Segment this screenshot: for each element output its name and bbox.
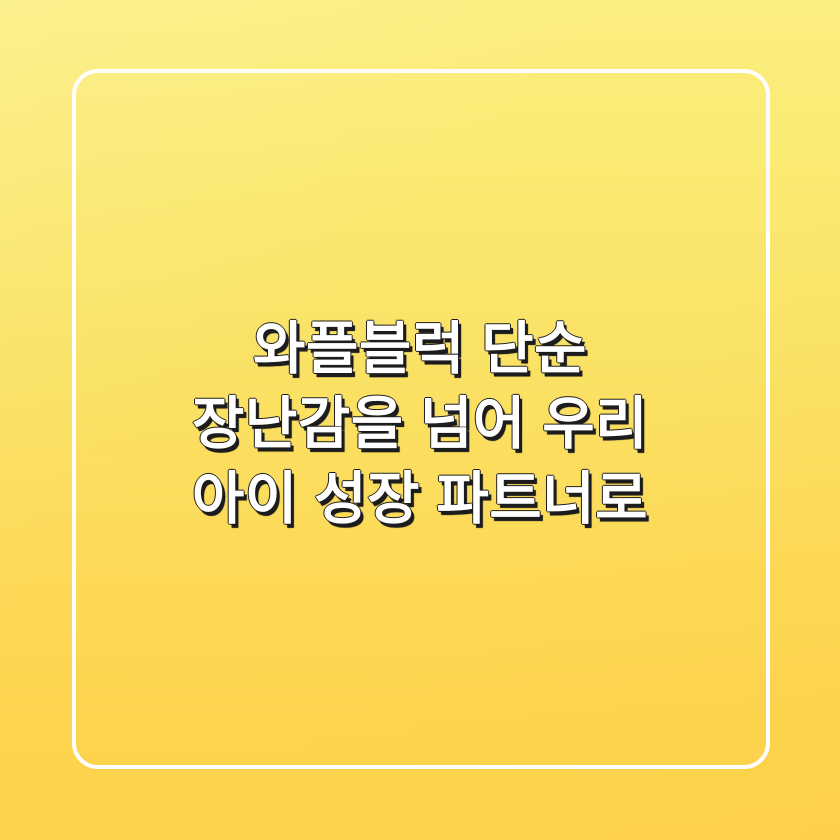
promo-banner: 와플블럭 단순 장난감을 넘어 우리 아이 성장 파트너로 <box>0 0 840 840</box>
headline-line-2: 장난감을 넘어 우리 <box>60 387 780 462</box>
headline-block: 와플블럭 단순 장난감을 넘어 우리 아이 성장 파트너로 <box>0 312 840 537</box>
headline-line-3: 아이 성장 파트너로 <box>60 462 780 537</box>
headline-line-1: 와플블럭 단순 <box>60 312 780 387</box>
